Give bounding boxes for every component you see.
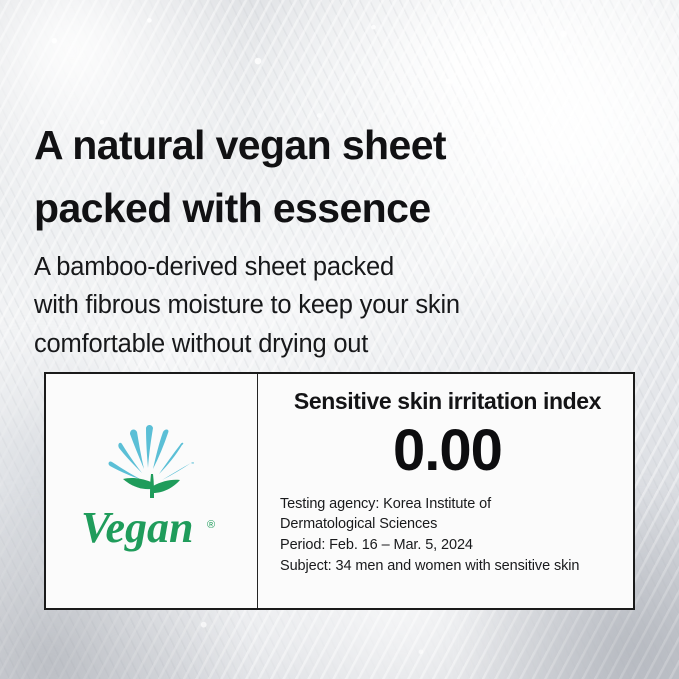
headline-line-2: packed with essence [34, 174, 634, 243]
subcopy-line-2: with fibrous moisture to keep your skin [34, 286, 574, 325]
cert-detail-period: Period: Feb. 16 – Mar. 5, 2024 [280, 535, 579, 556]
subcopy-line-3: comfortable without drying out [34, 325, 574, 364]
vegan-wordmark: Vegan [81, 503, 193, 552]
cert-title: Sensitive skin irritation index [294, 388, 601, 415]
subcopy: A bamboo-derived sheet packed with fibro… [34, 248, 574, 364]
cert-details: Testing agency: Korea Institute of Derma… [272, 494, 579, 576]
subcopy-line-1: A bamboo-derived sheet packed [34, 248, 574, 287]
cert-detail-agency-line-2: Dermatological Sciences [280, 514, 579, 535]
headline: A natural vegan sheet packed with essenc… [34, 111, 634, 243]
cert-detail-subject: Subject: 34 men and women with sensitive… [280, 556, 579, 577]
certification-info: Sensitive skin irritation index 0.00 Tes… [258, 374, 633, 608]
registered-mark: ® [207, 519, 215, 531]
product-detail-image: A natural vegan sheet packed with essenc… [0, 0, 679, 679]
vegan-logo-icon: Vegan ® [67, 416, 237, 566]
certification-card: Vegan ® Sensitive skin irritation index … [44, 372, 635, 610]
cert-value: 0.00 [393, 421, 502, 482]
vegan-logo-panel: Vegan ® [46, 374, 258, 608]
headline-line-1: A natural vegan sheet [34, 111, 634, 180]
cert-detail-agency-line-1: Testing agency: Korea Institute of [280, 494, 579, 515]
vegan-logo: Vegan ® [67, 416, 237, 566]
